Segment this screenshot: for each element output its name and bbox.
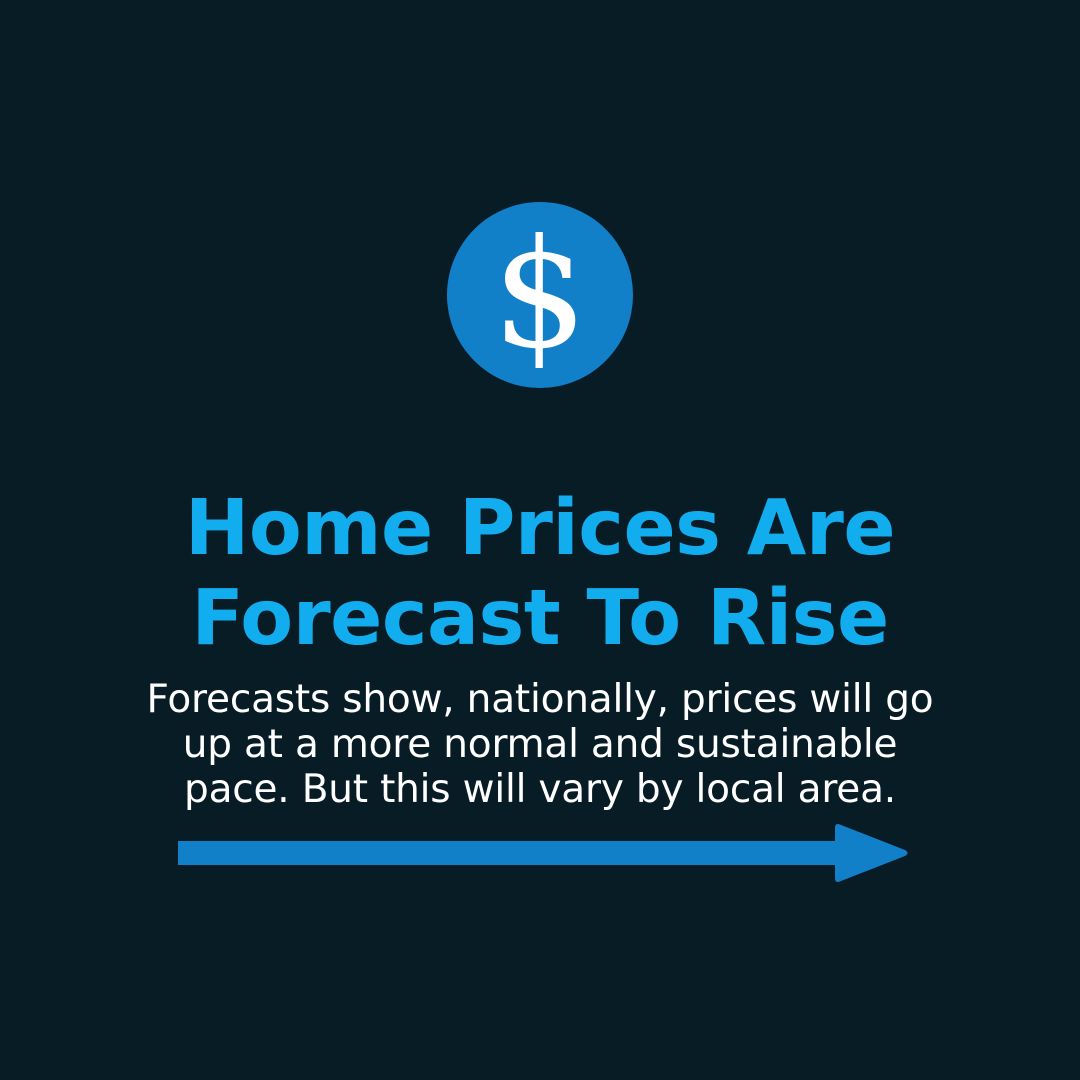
dollar-badge: $ [0, 202, 1080, 388]
headline-line-2: Forecast To Rise [60, 574, 1020, 664]
arrow-right-icon [175, 822, 910, 884]
page-title: Home Prices Are Forecast To Rise [0, 484, 1080, 664]
dollar-sign-icon: $ [447, 202, 633, 388]
poster-canvas: $ Home Prices Are Forecast To Rise Forec… [0, 0, 1080, 1080]
body-paragraph: Forecasts show, nationally, prices will … [0, 677, 1080, 812]
body-line-3: pace. But this will vary by local area. [80, 767, 1000, 812]
badge-circle: $ [447, 202, 633, 388]
body-line-2: up at a more normal and sustainable [80, 722, 1000, 767]
body-line-1: Forecasts show, nationally, prices will … [80, 677, 1000, 722]
headline-line-1: Home Prices Are [60, 484, 1020, 574]
svg-text:$: $ [492, 208, 587, 382]
